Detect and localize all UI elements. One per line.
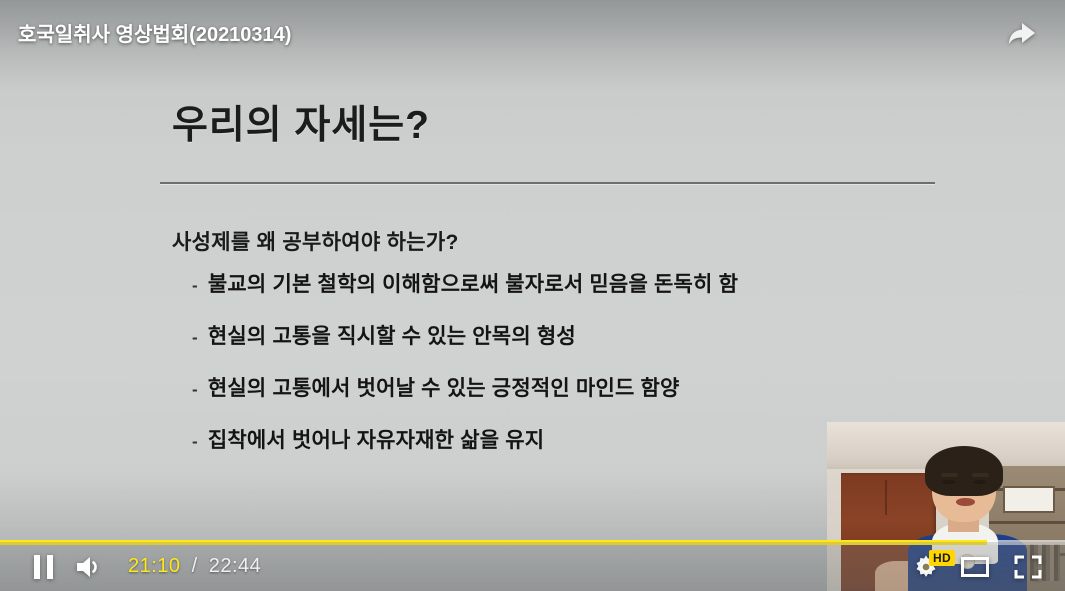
pause-bars <box>34 555 53 579</box>
list-item: - 불교의 기본 철학의 이해함으로써 불자로서 믿음을 돈독히 함 <box>192 268 738 298</box>
webcam-eyebrow-right <box>972 473 989 477</box>
slide-lead-question: 사성제를 왜 공부하여야 하는가? <box>172 226 459 256</box>
bullet-dash: - <box>192 328 198 348</box>
time-total: 22:44 <box>209 555 262 577</box>
player-control-bar[interactable]: 21:10 / 22:44 HD <box>0 542 1065 591</box>
video-player[interactable]: 우리의 자세는? 사성제를 왜 공부하여야 하는가? - 불교의 기본 철학의 … <box>0 0 1065 591</box>
share-icon[interactable] <box>997 12 1045 56</box>
fullscreen-icon[interactable] <box>1001 542 1055 591</box>
webcam-picture-frame <box>1003 486 1055 513</box>
list-item: - 현실의 고통을 직시할 수 있는 안목의 형성 <box>192 320 738 350</box>
time-separator: / <box>192 555 198 577</box>
bullet-text: 현실의 고통에서 벗어날 수 있는 긍정적인 마인드 함양 <box>208 372 680 402</box>
page-title: 호국일취사 영상법회(20210314) <box>18 18 291 47</box>
theater-mode-icon[interactable] <box>949 542 1001 591</box>
time-current: 21:10 <box>128 555 181 577</box>
settings-gear-icon[interactable]: HD <box>903 542 949 591</box>
bullet-text: 현실의 고통을 직시할 수 있는 안목의 형성 <box>208 320 576 350</box>
bullet-text: 집착에서 벗어나 자유자재한 삶을 유지 <box>208 424 544 454</box>
webcam-hair <box>925 446 1004 497</box>
webcam-eyebrow-left <box>941 473 958 477</box>
volume-icon[interactable] <box>64 542 114 591</box>
slide-divider <box>160 182 935 184</box>
pause-icon[interactable] <box>22 542 64 591</box>
bullet-dash: - <box>192 432 198 452</box>
slide-bullet-list: - 불교의 기본 철학의 이해함으로써 불자로서 믿음을 돈독히 함 - 현실의… <box>192 268 738 476</box>
list-item: - 집착에서 벗어나 자유자재한 삶을 유지 <box>192 424 738 454</box>
bullet-dash: - <box>192 380 198 400</box>
slide-title: 우리의 자세는? <box>172 94 430 150</box>
list-item: - 현실의 고통에서 벗어날 수 있는 긍정적인 마인드 함양 <box>192 372 738 402</box>
bullet-text: 불교의 기본 철학의 이해함으로써 불자로서 믿음을 돈독히 함 <box>208 268 738 298</box>
hd-badge: HD <box>929 550 955 566</box>
time-display: 21:10 / 22:44 <box>128 555 261 578</box>
bullet-dash: - <box>192 276 198 296</box>
